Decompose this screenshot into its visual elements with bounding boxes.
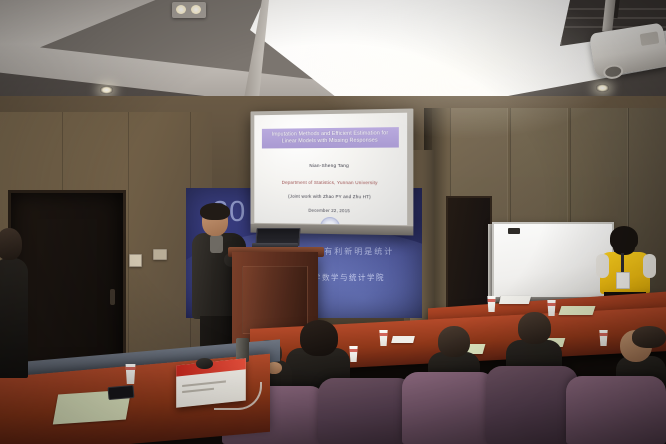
speaker-shirt — [210, 235, 223, 253]
slide-title: Imputation Methods and Efficient Estimat… — [262, 127, 399, 148]
whiteboard-marker-clip-icon — [508, 228, 520, 234]
slide-joint-work: (Joint work with Zhao PY and Zhu HT) — [254, 194, 407, 200]
note-paper — [499, 296, 531, 304]
ceiling-spotlight-box — [172, 2, 206, 18]
door-handle-icon — [110, 289, 115, 305]
projection-screen: Imputation Methods and Efficient Estimat… — [251, 108, 414, 235]
note-paper — [559, 306, 596, 315]
slide-department: Department of Statistics, Yunnan Univers… — [254, 180, 407, 185]
audience-chair — [318, 378, 414, 444]
projector-vent — [640, 31, 660, 46]
audience-chair — [402, 372, 496, 444]
audience-member — [0, 228, 28, 378]
downlight-icon — [100, 86, 113, 94]
note-paper — [391, 336, 415, 343]
presentation-slide: Imputation Methods and Efficient Estimat… — [254, 113, 407, 225]
lanyard-icon — [621, 253, 624, 273]
wall-control-panel[interactable] — [153, 249, 167, 260]
slide-date: December 22, 2015 — [254, 207, 407, 214]
light-switch[interactable] — [129, 254, 142, 267]
conference-room-photo: 20 学术论坛 所有利新明是统计 电子科技大学数学与统计学院 学术 Imputa… — [0, 0, 666, 444]
volunteer-hair — [610, 226, 638, 250]
computer-mouse[interactable] — [196, 358, 213, 369]
audience-chair — [486, 366, 578, 444]
speaker-hair — [200, 203, 230, 220]
smartphone[interactable] — [107, 385, 134, 400]
downlight-icon — [596, 84, 609, 92]
slide-author: Nian-Sheng Tang — [254, 164, 407, 169]
audience-chair — [566, 376, 666, 444]
badge-icon — [616, 272, 630, 289]
